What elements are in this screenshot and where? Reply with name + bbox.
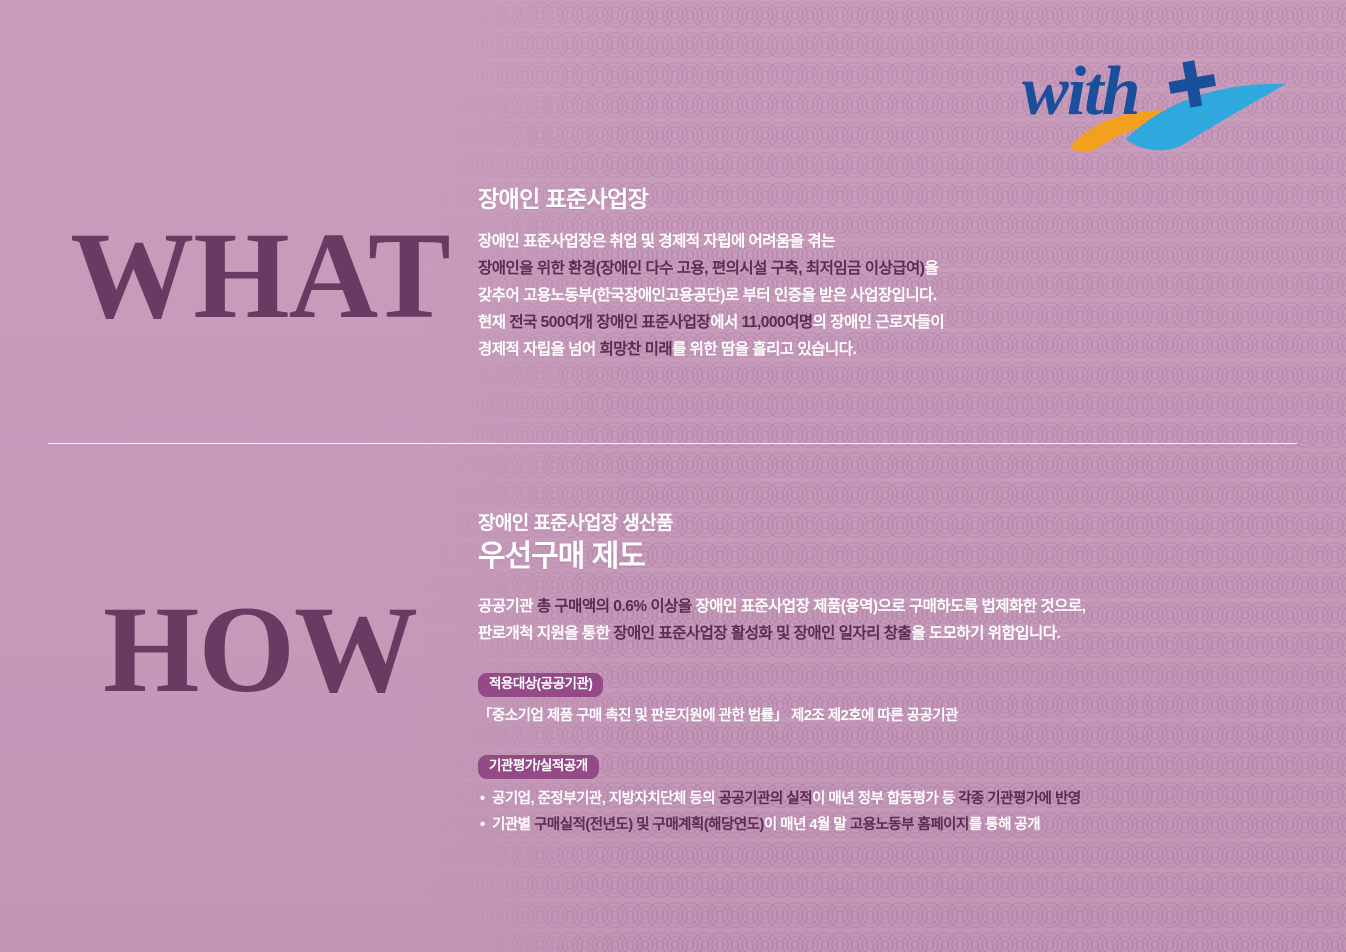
how-paragraph: 공공기관 총 구매액의 0.6% 이상을 장애인 표준사업장 제품(용역)으로 … (478, 593, 1278, 647)
highlighted-text: 전국 500여개 장애인 표준사업장 (509, 314, 710, 331)
highlighted-text: 각종 기관평가에 반영 (958, 791, 1081, 807)
body-text: 을 도모하기 위함입니다. (911, 625, 1060, 642)
detail-block: 적용대상(공공기관) (478, 673, 1278, 697)
highlighted-text: 장애인을 위한 환경(장애인 다수 고용, 편의시설 구축, 최저임금 이상급여… (478, 260, 924, 277)
detail-block: 기관평가/실적공개 (478, 755, 1278, 779)
body-text: 판로개척 지원을 통한 (478, 625, 613, 642)
body-text: 갖추어 고용노동부(한국장애인고용공단)로 부터 인증을 받은 사업장입니다. (478, 287, 937, 304)
how-section: 장애인 표준사업장 생산품 우선구매 제도 공공기관 총 구매액의 0.6% 이… (478, 512, 1278, 838)
what-line: 경제적 자립을 넘어 희망찬 미래를 위한 땀을 흘리고 있습니다. (478, 336, 1278, 363)
body-text: 기관별 (492, 817, 534, 833)
how-line: 공공기관 총 구매액의 0.6% 이상을 장애인 표준사업장 제품(용역)으로 … (478, 593, 1278, 620)
body-text: 를 위한 땀을 흘리고 있습니다. (672, 341, 856, 358)
what-title: 장애인 표준사업장 (478, 186, 1278, 214)
highlighted-text: 총 구매액의 0.6% 이상을 (537, 598, 692, 615)
body-text: 이 매년 정부 합동평가 등 (812, 791, 958, 807)
section-badge: 기관평가/실적공개 (478, 755, 599, 779)
with-plus-logo: with (1018, 44, 1294, 160)
what-line: 갖추어 고용노동부(한국장애인고용공단)로 부터 인증을 받은 사업장입니다. (478, 282, 1278, 309)
highlighted-text: 구매실적(전년도) 및 구매계획(해당연도) (534, 817, 764, 833)
section-divider (48, 443, 1297, 444)
what-line: 장애인을 위한 환경(장애인 다수 고용, 편의시설 구축, 최저임금 이상급여… (478, 255, 1278, 282)
highlighted-text: 장애인 표준사업장 활성화 및 장애인 일자리 창출 (613, 625, 911, 642)
how-label: HOW (70, 588, 450, 712)
what-section: 장애인 표준사업장 장애인 표준사업장은 취업 및 경제적 자립에 어려움을 겪… (478, 186, 1278, 363)
what-line: 장애인 표준사업장은 취업 및 경제적 자립에 어려움을 겪는 (478, 228, 1278, 255)
how-line: 판로개척 지원을 통한 장애인 표준사업장 활성화 및 장애인 일자리 창출을 … (478, 620, 1278, 647)
what-paragraph: 장애인 표준사업장은 취업 및 경제적 자립에 어려움을 겪는장애인을 위한 환… (478, 228, 1278, 363)
how-title: 우선구매 제도 (478, 538, 1278, 576)
bullet-item: 기관별 구매실적(전년도) 및 구매계획(해당연도)이 매년 4월 말 고용노동… (478, 812, 1278, 838)
body-text: 현재 (478, 314, 509, 331)
bullet-item: 공기업, 준정부기관, 지방자치단체 등의 공공기관의 실적이 매년 정부 합동… (478, 786, 1278, 812)
logo-wordmark-text: with (1022, 53, 1139, 130)
body-text: 를 통해 공개 (969, 817, 1040, 833)
body-text: 장애인 표준사업장은 취업 및 경제적 자립에 어려움을 겪는 (478, 233, 835, 250)
highlighted-text: 공공기관의 실적 (719, 791, 812, 807)
body-text: 「중소기업 제품 구매 촉진 및 판로지원에 관한 법률」 제2조 제2호에 따… (478, 708, 958, 724)
highlighted-text: 11,000여명 (742, 314, 813, 331)
body-text: 장애인 표준사업장 제품(용역)으로 구매하도록 법제화한 것으로, (692, 598, 1086, 615)
body-text: 공공기관 (478, 598, 537, 615)
body-text: 을 (924, 260, 938, 277)
body-text: 경제적 자립을 넘어 (478, 341, 600, 358)
section-badge: 적용대상(공공기관) (478, 673, 603, 697)
what-label: WHAT (70, 214, 450, 338)
highlighted-text: 고용노동부 홈페이지 (850, 817, 969, 833)
detail-line: 「중소기업 제품 구매 촉진 및 판로지원에 관한 법률」 제2조 제2호에 따… (478, 704, 1278, 729)
body-text: 이 매년 4월 말 (764, 817, 850, 833)
highlighted-text: 희망찬 미래 (600, 341, 673, 358)
how-kicker: 장애인 표준사업장 생산품 (478, 512, 1278, 536)
body-text: 공기업, 준정부기관, 지방자치단체 등의 (492, 791, 719, 807)
body-text: 에서 (710, 314, 741, 331)
body-text: 의 장애인 근로자들이 (813, 314, 944, 331)
what-line: 현재 전국 500여개 장애인 표준사업장에서 11,000여명의 장애인 근로… (478, 309, 1278, 336)
how-detail-blocks: 적용대상(공공기관)「중소기업 제품 구매 촉진 및 판로지원에 관한 법률」 … (478, 673, 1278, 838)
